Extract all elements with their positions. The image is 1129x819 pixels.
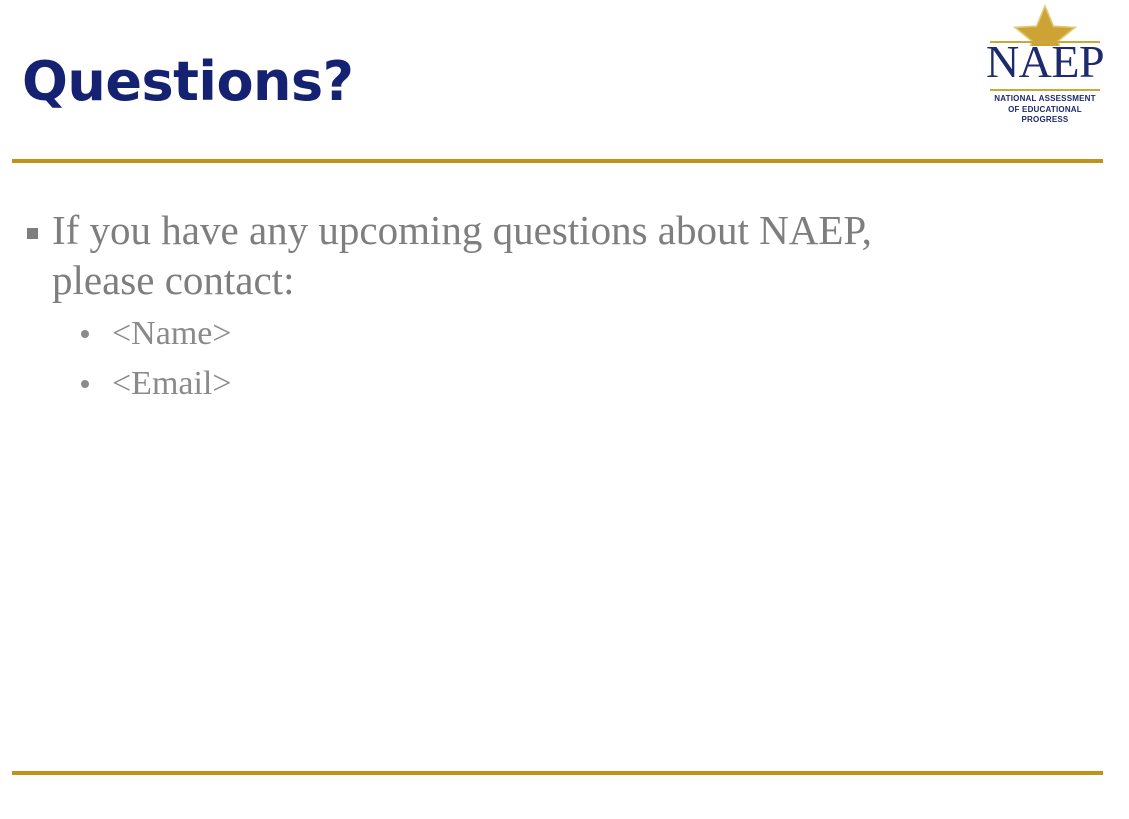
- square-bullet-icon: [27, 228, 38, 239]
- top-divider-rule: [12, 159, 1103, 163]
- bullet-email-text: <Email>: [112, 365, 232, 402]
- bullet-level1-text: If you have any upcoming questions about…: [52, 205, 982, 305]
- body-content: If you have any upcoming questions about…: [0, 205, 1020, 409]
- logo-caption: NATIONAL ASSESSMENT OF EDUCATIONAL PROGR…: [984, 94, 1106, 126]
- logo-caption-line-2: OF EDUCATIONAL: [984, 105, 1106, 116]
- page-title: Questions?: [22, 50, 902, 122]
- logo-caption-line-1: NATIONAL ASSESSMENT: [984, 94, 1106, 105]
- naep-logo: NAEP NATIONAL ASSESSMENT OF EDUCATIONAL …: [984, 4, 1106, 132]
- bottom-divider-rule: [12, 771, 1103, 775]
- bullet-name-text: <Name>: [112, 315, 232, 352]
- logo-wordmark: NAEP: [984, 38, 1106, 86]
- bullet-item-email: <Email>: [0, 359, 1020, 409]
- bullet-item-name: <Name>: [0, 309, 1020, 359]
- logo-caption-line-3: PROGRESS: [984, 115, 1106, 126]
- sub-bullet-list: <Name> <Email>: [0, 309, 1020, 409]
- round-bullet-icon: [81, 330, 89, 338]
- slide-canvas: Questions? NAEP NATIONAL ASSESSMENT OF E…: [0, 0, 1129, 819]
- round-bullet-icon: [81, 380, 89, 388]
- logo-rule-bottom: [990, 89, 1100, 91]
- bullet-item-level1: If you have any upcoming questions about…: [0, 205, 982, 305]
